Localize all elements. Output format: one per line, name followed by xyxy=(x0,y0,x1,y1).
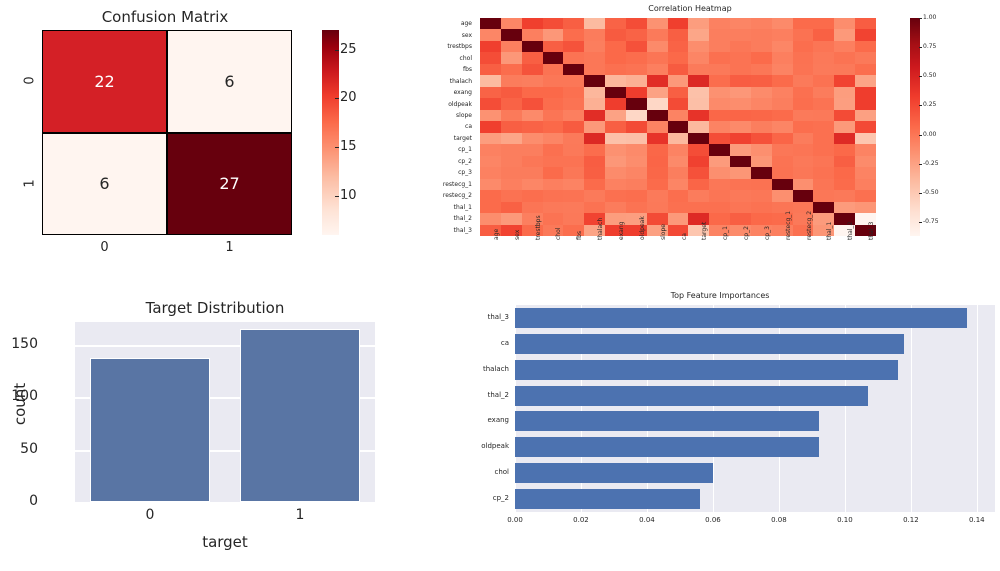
correlation-heatmap-cell xyxy=(793,144,814,155)
correlation-heatmap-cell xyxy=(647,18,668,29)
x-tick-label: 0 xyxy=(120,507,180,523)
correlation-heatmap-cell xyxy=(709,52,730,63)
correlation-heatmap-cell xyxy=(834,98,855,109)
correlation-heatmap-cell xyxy=(647,41,668,52)
correlation-heatmap-cell xyxy=(855,202,876,213)
correlation-heatmap-cell xyxy=(751,98,772,109)
correlation-heatmap-cell xyxy=(584,75,605,86)
correlation-heatmap-row-label: restecg_1 xyxy=(420,179,476,190)
correlation-heatmap-column-label: thalach xyxy=(597,218,604,240)
correlation-heatmap-cell xyxy=(605,98,626,109)
correlation-heatmap-cell xyxy=(688,29,709,40)
x-tick-label: 0.08 xyxy=(759,516,799,524)
correlation-heatmap-cell xyxy=(813,121,834,132)
bar[interactable] xyxy=(515,411,819,431)
correlation-heatmap-cell xyxy=(709,18,730,29)
correlation-heatmap-cell xyxy=(668,29,689,40)
correlation-heatmap-cell xyxy=(751,167,772,178)
bar[interactable] xyxy=(515,360,898,380)
correlation-heatmap-cell xyxy=(709,167,730,178)
correlation-heatmap-cell xyxy=(480,52,501,63)
correlation-heatmap-cell xyxy=(855,75,876,86)
x-tick-label: 0.12 xyxy=(891,516,931,524)
x-tick-label: 0.10 xyxy=(825,516,865,524)
confusion-matrix-cell: 22 xyxy=(42,30,167,133)
correlation-heatmap-column-label: fbs xyxy=(576,231,583,240)
correlation-heatmap-cell xyxy=(501,167,522,178)
correlation-heatmap-cell xyxy=(605,75,626,86)
correlation-heatmap-cell xyxy=(522,64,543,75)
feature-label: oldpeak xyxy=(445,442,509,450)
correlation-heatmap-cell xyxy=(626,29,647,40)
confusion-matrix-cell: 6 xyxy=(167,30,292,133)
correlation-heatmap-cell xyxy=(834,52,855,63)
bar[interactable] xyxy=(515,308,967,328)
correlation-heatmap-cell xyxy=(543,144,564,155)
correlation-heatmap-cell xyxy=(751,156,772,167)
correlation-heatmap-cell xyxy=(688,121,709,132)
correlation-heatmap-cell xyxy=(584,179,605,190)
correlation-heatmap-cell xyxy=(584,41,605,52)
correlation-heatmap-cell xyxy=(501,121,522,132)
correlation-heatmap-cell xyxy=(855,29,876,40)
colorbar-tick-label: -0.50 xyxy=(923,189,939,196)
correlation-heatmap-cell xyxy=(563,64,584,75)
correlation-heatmap-cell xyxy=(543,133,564,144)
correlation-heatmap-cell xyxy=(647,52,668,63)
correlation-heatmap-cell xyxy=(543,18,564,29)
correlation-heatmap-cell xyxy=(813,110,834,121)
correlation-heatmap-cell xyxy=(501,156,522,167)
correlation-heatmap-row-label: ca xyxy=(420,121,476,132)
correlation-heatmap-cell xyxy=(688,202,709,213)
correlation-heatmap-cell xyxy=(647,110,668,121)
correlation-heatmap-cell xyxy=(668,110,689,121)
correlation-heatmap-cell xyxy=(751,179,772,190)
x-tick-label: 0.00 xyxy=(495,516,535,524)
correlation-heatmap-cell xyxy=(834,29,855,40)
correlation-heatmap-cell xyxy=(584,64,605,75)
feature-label: ca xyxy=(445,339,509,347)
correlation-heatmap-cell xyxy=(647,98,668,109)
correlation-heatmap-cell xyxy=(688,167,709,178)
correlation-heatmap-cell xyxy=(543,110,564,121)
correlation-heatmap-cell xyxy=(522,144,543,155)
feature-importances-plot-area xyxy=(515,305,995,512)
correlation-heatmap-column-label: cp_2 xyxy=(743,226,750,240)
correlation-heatmap-cell xyxy=(855,98,876,109)
correlation-heatmap-cell xyxy=(563,98,584,109)
correlation-heatmap-cell xyxy=(480,144,501,155)
correlation-heatmap-cell xyxy=(501,98,522,109)
correlation-heatmap-cell xyxy=(709,29,730,40)
correlation-heatmap-cell xyxy=(709,156,730,167)
correlation-heatmap-cell xyxy=(501,179,522,190)
correlation-heatmap-cell xyxy=(834,87,855,98)
correlation-heatmap-cell xyxy=(855,179,876,190)
correlation-heatmap-cell xyxy=(730,156,751,167)
correlation-heatmap-cell xyxy=(563,213,584,224)
correlation-heatmap-cell xyxy=(772,87,793,98)
correlation-heatmap-cell xyxy=(605,144,626,155)
correlation-heatmap-cell xyxy=(709,179,730,190)
correlation-heatmap-cell xyxy=(626,156,647,167)
correlation-heatmap-cell xyxy=(522,41,543,52)
correlation-heatmap-cell xyxy=(793,98,814,109)
correlation-heatmap-cell xyxy=(730,18,751,29)
correlation-heatmap-cell xyxy=(834,202,855,213)
correlation-heatmap-cell xyxy=(668,167,689,178)
correlation-heatmap-cell xyxy=(543,29,564,40)
correlation-heatmap-cell xyxy=(668,64,689,75)
correlation-heatmap-cell xyxy=(501,18,522,29)
y-tick-label: 150 xyxy=(0,336,38,352)
correlation-heatmap-cell xyxy=(563,110,584,121)
correlation-heatmap-cell xyxy=(855,167,876,178)
correlation-heatmap-cell xyxy=(834,75,855,86)
correlation-heatmap-column-label: restecg_2 xyxy=(806,211,813,240)
correlation-heatmap-cell xyxy=(668,98,689,109)
target-distribution-y-axis-label: count xyxy=(11,359,29,449)
correlation-heatmap-column-label: age xyxy=(493,229,500,240)
correlation-heatmap-cell xyxy=(584,133,605,144)
correlation-heatmap-cell xyxy=(855,144,876,155)
correlation-heatmap-cell xyxy=(501,64,522,75)
correlation-heatmap-cell xyxy=(751,87,772,98)
correlation-heatmap-cell xyxy=(751,144,772,155)
correlation-heatmap-cell xyxy=(626,75,647,86)
correlation-heatmap-cell xyxy=(668,156,689,167)
correlation-heatmap-cell xyxy=(668,41,689,52)
correlation-heatmap-cell xyxy=(522,156,543,167)
bar[interactable] xyxy=(515,437,819,457)
correlation-heatmap-cell xyxy=(480,133,501,144)
correlation-heatmap-cell xyxy=(709,144,730,155)
correlation-heatmap-cell xyxy=(751,110,772,121)
correlation-heatmap-cell xyxy=(543,87,564,98)
confusion-matrix-cell: 6 xyxy=(42,133,167,236)
correlation-heatmap-cell xyxy=(668,52,689,63)
correlation-heatmap-row-label: cp_2 xyxy=(420,156,476,167)
feature-label: cp_2 xyxy=(445,494,509,502)
correlation-heatmap-cell xyxy=(563,52,584,63)
correlation-heatmap-cell xyxy=(709,133,730,144)
correlation-heatmap-cell xyxy=(688,52,709,63)
correlation-heatmap-cell xyxy=(626,179,647,190)
correlation-heatmap-cell xyxy=(751,64,772,75)
correlation-heatmap-cell xyxy=(813,87,834,98)
correlation-heatmap-column-label: cp_1 xyxy=(722,226,729,240)
correlation-heatmap-cell xyxy=(813,190,834,201)
correlation-heatmap-cell xyxy=(584,18,605,29)
correlation-heatmap-row-label: exang xyxy=(420,87,476,98)
correlation-heatmap-cell xyxy=(605,202,626,213)
correlation-heatmap-cell xyxy=(480,179,501,190)
correlation-heatmap-cell xyxy=(563,121,584,132)
correlation-heatmap-cell xyxy=(563,41,584,52)
correlation-heatmap-cell xyxy=(855,133,876,144)
correlation-heatmap-cell xyxy=(584,167,605,178)
correlation-heatmap-cell xyxy=(626,190,647,201)
correlation-heatmap-cell xyxy=(668,213,689,224)
correlation-heatmap-cell xyxy=(668,18,689,29)
correlation-heatmap-panel: Correlation Heatmap agesextrestbpscholfb… xyxy=(420,0,1000,285)
correlation-heatmap-cell xyxy=(522,98,543,109)
target-distribution-x-axis-label: target xyxy=(75,533,375,551)
correlation-heatmap-cell xyxy=(793,41,814,52)
colorbar-tick-label: 20 xyxy=(340,90,357,105)
correlation-heatmap-cell xyxy=(501,87,522,98)
confusion-matrix-row-label: 0 xyxy=(23,73,38,89)
correlation-heatmap-cell xyxy=(563,18,584,29)
correlation-heatmap-cell xyxy=(605,41,626,52)
correlation-heatmap-cell xyxy=(793,133,814,144)
correlation-heatmap-cell xyxy=(793,110,814,121)
correlation-heatmap-cell xyxy=(563,75,584,86)
correlation-heatmap-cell xyxy=(501,190,522,201)
correlation-heatmap-cell xyxy=(605,190,626,201)
correlation-heatmap-cell xyxy=(855,110,876,121)
correlation-heatmap-cell xyxy=(647,121,668,132)
x-tick-label: 0.04 xyxy=(627,516,667,524)
correlation-heatmap-cell xyxy=(480,41,501,52)
correlation-heatmap-cell xyxy=(730,167,751,178)
correlation-heatmap-row-label: sex xyxy=(420,29,476,40)
correlation-heatmap-cell xyxy=(584,190,605,201)
correlation-heatmap-cell xyxy=(563,29,584,40)
correlation-heatmap-cell xyxy=(813,133,834,144)
correlation-heatmap-cell xyxy=(563,202,584,213)
correlation-heatmap-cell xyxy=(584,52,605,63)
correlation-heatmap-cell xyxy=(543,41,564,52)
correlation-heatmap-cell xyxy=(563,144,584,155)
target-distribution-title: Target Distribution xyxy=(30,299,400,317)
gridline xyxy=(977,305,978,512)
correlation-heatmap-cell xyxy=(522,87,543,98)
correlation-heatmap-cell xyxy=(668,87,689,98)
correlation-heatmap-column-label: slope xyxy=(660,224,667,240)
gridline xyxy=(911,305,912,512)
correlation-heatmap-cell xyxy=(480,64,501,75)
correlation-heatmap-cell xyxy=(626,52,647,63)
correlation-heatmap-cell xyxy=(522,18,543,29)
correlation-heatmap-cell xyxy=(834,179,855,190)
target-distribution-plot-area xyxy=(75,322,375,502)
correlation-heatmap-cell xyxy=(480,121,501,132)
correlation-heatmap-cell xyxy=(688,98,709,109)
correlation-heatmap-cell xyxy=(709,121,730,132)
feature-label: thalach xyxy=(445,365,509,373)
correlation-heatmap-cell xyxy=(688,41,709,52)
confusion-matrix-row-label: 1 xyxy=(23,175,38,191)
correlation-heatmap-column-label: oldpeak xyxy=(639,216,646,240)
correlation-heatmap-cell xyxy=(688,110,709,121)
correlation-heatmap-cell xyxy=(730,213,751,224)
bar[interactable] xyxy=(240,329,360,502)
correlation-heatmap-row-label: restecg_2 xyxy=(420,190,476,201)
correlation-heatmap-cell xyxy=(834,41,855,52)
bar[interactable] xyxy=(515,463,713,483)
correlation-heatmap-cell xyxy=(772,167,793,178)
colorbar-tick-label: 0.75 xyxy=(923,43,936,50)
colorbar-tick-label: -0.25 xyxy=(923,160,939,167)
correlation-heatmap-row-label: thalach xyxy=(420,75,476,86)
correlation-heatmap-cell xyxy=(543,121,564,132)
correlation-heatmap-cell xyxy=(855,52,876,63)
correlation-heatmap-cell xyxy=(522,179,543,190)
correlation-heatmap-cell xyxy=(772,52,793,63)
correlation-heatmap-cell xyxy=(626,98,647,109)
correlation-heatmap-cell xyxy=(709,110,730,121)
correlation-heatmap-cell xyxy=(647,29,668,40)
correlation-heatmap-cell xyxy=(668,133,689,144)
colorbar-tick-label: -0.75 xyxy=(923,218,939,225)
colorbar-tick-label: 1.00 xyxy=(923,14,936,21)
correlation-heatmap-cell xyxy=(709,202,730,213)
correlation-heatmap-cell xyxy=(772,98,793,109)
confusion-matrix-colorbar xyxy=(322,30,339,235)
correlation-heatmap-cell xyxy=(834,64,855,75)
correlation-heatmap-cell xyxy=(793,190,814,201)
correlation-heatmap-cell xyxy=(751,75,772,86)
correlation-heatmap-cell xyxy=(605,110,626,121)
correlation-heatmap-cell xyxy=(480,190,501,201)
correlation-heatmap-cell xyxy=(626,133,647,144)
colorbar-tick-label: 10 xyxy=(340,188,357,203)
correlation-heatmap-cell xyxy=(584,144,605,155)
correlation-heatmap-cell xyxy=(730,98,751,109)
correlation-heatmap-cell xyxy=(584,202,605,213)
correlation-heatmap-column-label: trestbps xyxy=(535,215,542,240)
correlation-heatmap-row-label: target xyxy=(420,133,476,144)
correlation-heatmap-cell xyxy=(480,213,501,224)
correlation-heatmap-cell xyxy=(813,179,834,190)
correlation-heatmap-cell xyxy=(730,87,751,98)
correlation-heatmap-cell xyxy=(522,110,543,121)
correlation-heatmap-cell xyxy=(730,121,751,132)
correlation-heatmap-cell xyxy=(543,98,564,109)
correlation-heatmap-cell xyxy=(647,179,668,190)
correlation-heatmap-cell xyxy=(855,18,876,29)
correlation-heatmap-cell xyxy=(543,52,564,63)
correlation-heatmap-row-label: cp_1 xyxy=(420,144,476,155)
correlation-heatmap-cell xyxy=(772,18,793,29)
correlation-heatmap-cell xyxy=(813,18,834,29)
correlation-heatmap-cell xyxy=(688,133,709,144)
correlation-heatmap-column-label: cp_3 xyxy=(764,226,771,240)
correlation-heatmap-cell xyxy=(751,202,772,213)
correlation-heatmap-cell xyxy=(605,29,626,40)
correlation-heatmap-colorbar xyxy=(910,18,920,236)
correlation-heatmap-cell xyxy=(730,190,751,201)
correlation-heatmap-cell xyxy=(563,87,584,98)
correlation-heatmap-cell xyxy=(772,41,793,52)
correlation-heatmap-cell xyxy=(709,41,730,52)
correlation-heatmap-cell xyxy=(730,29,751,40)
correlation-heatmap-cell xyxy=(751,18,772,29)
correlation-heatmap-cell xyxy=(584,121,605,132)
correlation-heatmap-cell xyxy=(834,121,855,132)
correlation-heatmap-cell xyxy=(688,87,709,98)
bar[interactable] xyxy=(515,334,904,354)
correlation-heatmap-cell xyxy=(813,29,834,40)
correlation-heatmap-cell xyxy=(688,75,709,86)
correlation-heatmap-cell xyxy=(605,87,626,98)
correlation-heatmap-cell xyxy=(501,52,522,63)
correlation-heatmap-cell xyxy=(647,167,668,178)
correlation-heatmap-cell xyxy=(647,87,668,98)
correlation-heatmap-cell xyxy=(855,190,876,201)
correlation-heatmap-cell xyxy=(584,110,605,121)
correlation-heatmap-cell xyxy=(751,29,772,40)
correlation-heatmap-column-label: thal_1 xyxy=(826,222,833,240)
correlation-heatmap-cell xyxy=(772,156,793,167)
y-tick-label: 0 xyxy=(0,493,38,509)
correlation-heatmap-cell xyxy=(480,87,501,98)
correlation-heatmap-cell xyxy=(772,144,793,155)
correlation-heatmap-cell xyxy=(730,202,751,213)
correlation-heatmap-cell xyxy=(522,52,543,63)
correlation-heatmap-cell xyxy=(688,18,709,29)
correlation-heatmap-cell xyxy=(855,41,876,52)
correlation-heatmap-cell xyxy=(522,29,543,40)
correlation-heatmap-cell xyxy=(626,167,647,178)
correlation-heatmap-cell xyxy=(793,29,814,40)
correlation-heatmap-cell xyxy=(480,110,501,121)
correlation-heatmap-cell xyxy=(501,133,522,144)
correlation-heatmap-cell xyxy=(772,190,793,201)
correlation-heatmap-cell xyxy=(647,133,668,144)
correlation-heatmap-cell xyxy=(793,156,814,167)
correlation-heatmap-cell xyxy=(793,18,814,29)
bar[interactable] xyxy=(90,358,210,502)
correlation-heatmap-cell xyxy=(647,213,668,224)
correlation-heatmap-cell xyxy=(668,179,689,190)
correlation-heatmap-cell xyxy=(626,64,647,75)
correlation-heatmap-cell xyxy=(793,75,814,86)
correlation-heatmap-column-label: exang xyxy=(618,222,625,240)
correlation-heatmap-cell xyxy=(626,41,647,52)
x-tick-label: 1 xyxy=(270,507,330,523)
correlation-heatmap-cell xyxy=(626,121,647,132)
correlation-heatmap-cell xyxy=(688,64,709,75)
correlation-heatmap-cell xyxy=(543,190,564,201)
colorbar-tick-label: 25 xyxy=(340,42,357,57)
correlation-heatmap-cell xyxy=(709,87,730,98)
correlation-heatmap-cell xyxy=(605,64,626,75)
correlation-heatmap-cell xyxy=(834,156,855,167)
correlation-heatmap-cell xyxy=(605,52,626,63)
correlation-heatmap-cell xyxy=(605,167,626,178)
correlation-heatmap-cell xyxy=(730,52,751,63)
correlation-heatmap-cell xyxy=(834,167,855,178)
correlation-heatmap-cell xyxy=(605,179,626,190)
correlation-heatmap-cell xyxy=(543,179,564,190)
correlation-heatmap-cell xyxy=(668,144,689,155)
correlation-heatmap-column-label: ca xyxy=(681,233,688,240)
correlation-heatmap-row-label: chol xyxy=(420,52,476,63)
correlation-heatmap-cell xyxy=(709,75,730,86)
correlation-heatmap-cell xyxy=(730,41,751,52)
correlation-heatmap-cell xyxy=(501,144,522,155)
correlation-heatmap-cell xyxy=(793,52,814,63)
bar[interactable] xyxy=(515,386,868,406)
bar[interactable] xyxy=(515,489,700,509)
correlation-heatmap-cell xyxy=(543,75,564,86)
confusion-matrix-cell: 27 xyxy=(167,133,292,236)
correlation-heatmap-cell xyxy=(730,179,751,190)
correlation-heatmap-cell xyxy=(501,29,522,40)
